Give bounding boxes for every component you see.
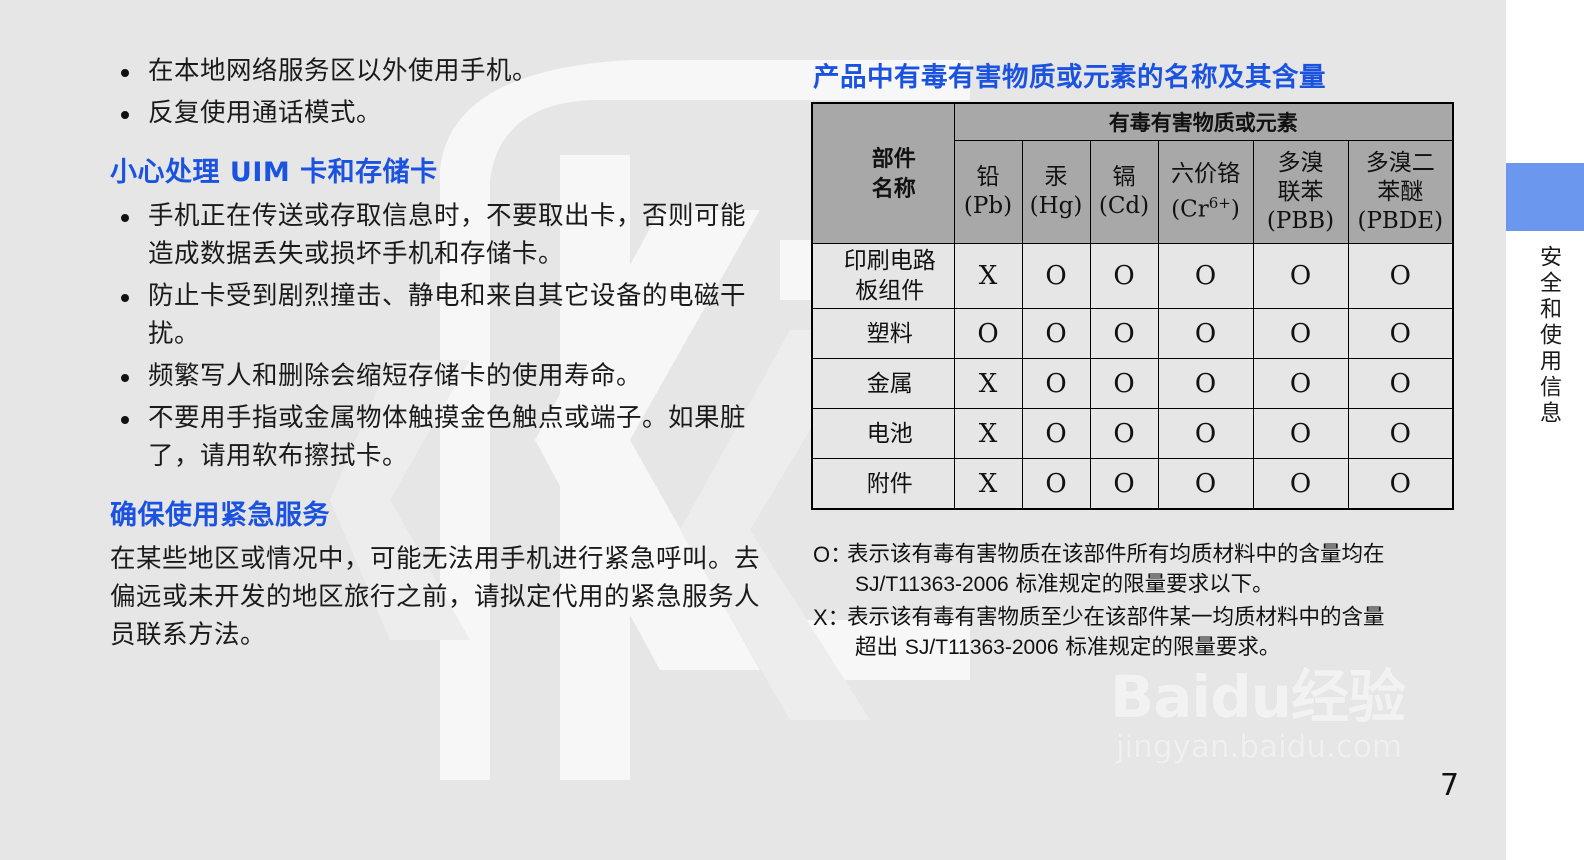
- header-col-pb-cn: 铅: [956, 163, 1021, 192]
- right-table-column: 产品中有毒有害物质或元素的名称及其含量 部件 名称 有毒有害物质或元素: [811, 55, 1456, 510]
- list-item: 频繁写人和删除会缩短存储卡的使用寿命。: [110, 357, 760, 395]
- header-substance-group: 有毒有害物质或元素: [954, 103, 1453, 141]
- section-heading-uim-card: 小心处理 UIM 卡和存储卡: [110, 150, 760, 189]
- cell-1-1: O: [1022, 309, 1090, 359]
- cell-2-5: O: [1348, 359, 1453, 409]
- table-row: 附件 X O O O O O: [812, 459, 1453, 510]
- left-text-column: 在本地网络服务区以外使用手机。 反复使用通话模式。 小心处理 UIM 卡和存储卡…: [110, 52, 760, 654]
- row-part-0-line2: 板组件: [827, 276, 953, 306]
- list-item: 在本地网络服务区以外使用手机。: [110, 52, 760, 90]
- cell-0-4: O: [1253, 244, 1348, 309]
- cell-3-0: X: [954, 409, 1022, 459]
- cell-0-5: O: [1348, 244, 1453, 309]
- header-col-pbde-cn2: 苯醚: [1350, 178, 1452, 207]
- top-bullet-list: 在本地网络服务区以外使用手机。 反复使用通话模式。: [110, 52, 760, 132]
- cell-2-2: O: [1090, 359, 1158, 409]
- chapter-tab-label: 安全和使用信息: [1526, 245, 1564, 427]
- header-col-cd: 镉 (Cd): [1090, 141, 1158, 244]
- baidu-url-text: jingyan.baidu.com: [1110, 729, 1500, 765]
- header-col-pb: 铅 (Pb): [954, 141, 1022, 244]
- cell-3-1: O: [1022, 409, 1090, 459]
- header-col-hg: 汞 (Hg): [1022, 141, 1090, 244]
- cell-2-0: X: [954, 359, 1022, 409]
- page-number: 7: [1440, 768, 1459, 803]
- cell-4-0: X: [954, 459, 1022, 510]
- list-item: 反复使用通话模式。: [110, 94, 760, 132]
- row-part-2: 金属: [812, 359, 954, 409]
- cell-3-5: O: [1348, 409, 1453, 459]
- cell-3-3: O: [1158, 409, 1253, 459]
- table-row: 印刷电路 板组件 X O O O O O: [812, 244, 1453, 309]
- legend-note-o-standard: SJ/T11363-2006: [855, 573, 1009, 596]
- legend-note-x-line1: 表示该有毒有害物质至少在该部件某一均质材料中的含量: [847, 605, 1385, 630]
- row-part-1: 塑料: [812, 309, 954, 359]
- legend-note-x-line2-cn: 标准规定的限量要求。: [1065, 635, 1280, 660]
- header-col-hg-sym: (Hg): [1024, 192, 1089, 221]
- baidu-jingyan-watermark: Baidu经验 jingyan.baidu.com: [1110, 665, 1500, 780]
- header-col-pb-sym: (Pb): [956, 192, 1021, 221]
- cell-1-3: O: [1158, 309, 1253, 359]
- cell-1-0: O: [954, 309, 1022, 359]
- cell-2-3: O: [1158, 359, 1253, 409]
- legend-note-o-line2: SJ/T11363-2006 标准规定的限量要求以下。: [847, 570, 1385, 600]
- table-row: 金属 X O O O O O: [812, 359, 1453, 409]
- header-col-pbb-cn1: 多溴: [1255, 149, 1347, 178]
- legend-note-o-line1: 表示该有毒有害物质在该部件所有均质材料中的含量均在: [847, 542, 1385, 567]
- legend-note-o-line2-cn: 标准规定的限量要求以下。: [1016, 572, 1274, 597]
- row-part-4: 附件: [812, 459, 954, 510]
- header-col-pbb: 多溴 联苯 (PBB): [1253, 141, 1348, 244]
- cell-4-2: O: [1090, 459, 1158, 510]
- cell-4-3: O: [1158, 459, 1253, 510]
- cell-4-4: O: [1253, 459, 1348, 510]
- uim-card-bullet-list: 手机正在传送或存取信息时，不要取出卡，否则可能造成数据丢失或损坏手机和存储卡。 …: [110, 197, 760, 475]
- header-col-cr6-sym: (Cr6+): [1160, 189, 1252, 225]
- cell-2-4: O: [1253, 359, 1348, 409]
- cell-0-2: O: [1090, 244, 1158, 309]
- cell-3-4: O: [1253, 409, 1348, 459]
- header-col-pbde: 多溴二 苯醚 (PBDE): [1348, 141, 1453, 244]
- row-part-0: 印刷电路 板组件: [812, 244, 954, 309]
- list-item: 不要用手指或金属物体触摸金色触点或端子。如果脏了，请用软布擦拭卡。: [110, 399, 760, 475]
- list-item: 手机正在传送或存取信息时，不要取出卡，否则可能造成数据丢失或损坏手机和存储卡。: [110, 197, 760, 273]
- header-part-name-line1: 部件: [835, 144, 953, 174]
- header-col-pbb-cn2: 联苯: [1255, 178, 1347, 207]
- header-col-cr6-sup: 6+: [1209, 194, 1231, 212]
- document-page: 在本地网络服务区以外使用手机。 反复使用通话模式。 小心处理 UIM 卡和存储卡…: [0, 0, 1506, 860]
- cell-0-0: X: [954, 244, 1022, 309]
- legend-note-o-key: O：: [813, 540, 847, 600]
- cell-4-1: O: [1022, 459, 1090, 510]
- header-col-cd-cn: 镉: [1092, 163, 1157, 192]
- cell-1-4: O: [1253, 309, 1348, 359]
- header-col-pbde-sym: (PBDE): [1350, 207, 1452, 236]
- table-header-group-row: 部件 名称 有毒有害物质或元素: [812, 103, 1453, 141]
- cell-1-2: O: [1090, 309, 1158, 359]
- header-col-pbb-sym: (PBB): [1255, 207, 1347, 236]
- header-col-pbde-cn1: 多溴二: [1350, 149, 1452, 178]
- hazardous-substances-table: 部件 名称 有毒有害物质或元素 铅 (Pb) 汞 (Hg) 镉: [811, 102, 1454, 510]
- legend-note-o-text: 表示该有毒有害物质在该部件所有均质材料中的含量均在 SJ/T11363-2006…: [847, 540, 1385, 600]
- legend-note-x-line2: 超出 SJ/T11363-2006 标准规定的限量要求。: [847, 633, 1385, 663]
- header-col-cd-sym: (Cd): [1092, 192, 1157, 221]
- chapter-tab-marker: [1506, 163, 1584, 231]
- table-legend-notes: O： 表示该有毒有害物质在该部件所有均质材料中的含量均在 SJ/T11363-2…: [813, 540, 1473, 666]
- emergency-service-paragraph: 在某些地区或情况中，可能无法用手机进行紧急呼叫。去偏远或未开发的地区旅行之前，请…: [110, 540, 760, 654]
- legend-note-x-text: 表示该有毒有害物质至少在该部件某一均质材料中的含量 超出 SJ/T11363-2…: [847, 603, 1385, 663]
- header-col-cr6-cn: 六价铬: [1160, 160, 1252, 189]
- legend-note-x-key: X：: [813, 603, 847, 663]
- row-part-0-line1: 印刷电路: [827, 246, 953, 276]
- legend-note-o: O： 表示该有毒有害物质在该部件所有均质材料中的含量均在 SJ/T11363-2…: [813, 540, 1473, 600]
- list-item: 防止卡受到剧烈撞击、静电和来自其它设备的电磁干扰。: [110, 277, 760, 353]
- legend-note-x: X： 表示该有毒有害物质至少在该部件某一均质材料中的含量 超出 SJ/T1136…: [813, 603, 1473, 663]
- header-col-cr6: 六价铬 (Cr6+): [1158, 141, 1253, 244]
- header-part-name: 部件 名称: [812, 103, 954, 244]
- cell-0-3: O: [1158, 244, 1253, 309]
- cell-0-1: O: [1022, 244, 1090, 309]
- section-heading-emergency-service: 确保使用紧急服务: [110, 493, 760, 532]
- table-title: 产品中有毒有害物质或元素的名称及其含量: [813, 55, 1456, 94]
- table-row: 塑料 O O O O O O: [812, 309, 1453, 359]
- row-part-3: 电池: [812, 409, 954, 459]
- legend-note-x-standard: SJ/T11363-2006: [905, 636, 1059, 659]
- header-col-cr6-sym-open: (Cr: [1171, 196, 1209, 222]
- cell-3-2: O: [1090, 409, 1158, 459]
- baidu-logo-text: Baidu经验: [1110, 665, 1500, 729]
- cell-1-5: O: [1348, 309, 1453, 359]
- cell-2-1: O: [1022, 359, 1090, 409]
- cell-4-5: O: [1348, 459, 1453, 510]
- legend-note-x-line2-pre: 超出: [855, 635, 898, 660]
- header-part-name-line2: 名称: [835, 174, 953, 204]
- table-row: 电池 X O O O O O: [812, 409, 1453, 459]
- header-col-cr6-sym-close: ): [1231, 196, 1240, 222]
- header-col-hg-cn: 汞: [1024, 163, 1089, 192]
